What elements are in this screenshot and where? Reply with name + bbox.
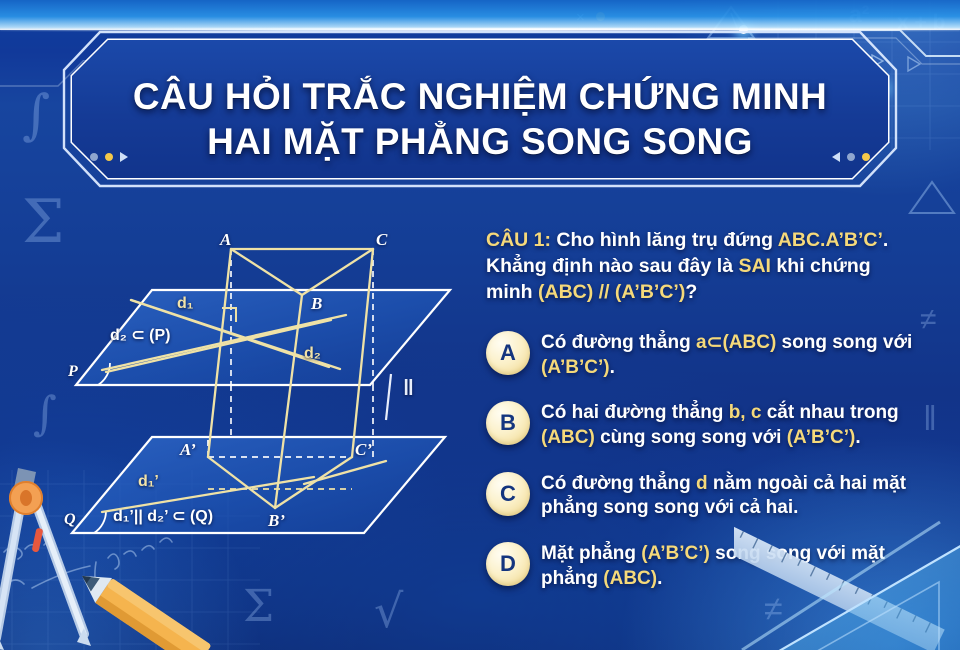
banner-title-text: CÂU HỎI TRẮC NGHIỆM CHỨNG MINH HAI MẶT P… bbox=[62, 74, 898, 164]
question-highlight-2: SAI bbox=[738, 255, 771, 277]
dot-grey bbox=[90, 153, 98, 161]
question-part-1: Cho hình lăng trụ đứng bbox=[551, 229, 778, 251]
title-banner: CÂU HỎI TRẮC NGHIỆM CHỨNG MINH HAI MẶT P… bbox=[62, 30, 898, 188]
banner-dots-right bbox=[832, 152, 870, 162]
poster-root: ∫ Σ ∫ Σ √ ≠ ≠ ‖ a² x + b × bbox=[0, 0, 960, 650]
parallel-tick bbox=[386, 374, 391, 420]
option-a[interactable]: A Có đường thẳng a⊂(ABC) song song với (… bbox=[486, 330, 926, 380]
question-highlight-3: (ABC) // (A’B’C’) bbox=[538, 281, 685, 303]
line-label-d1: d₁ bbox=[177, 295, 193, 313]
dot-gold bbox=[105, 153, 113, 161]
question-text: CÂU 1: Cho hình lăng trụ đứng ABC.A’B’C’… bbox=[486, 228, 916, 306]
relation-label-top: d₂ ⊂ (P) bbox=[110, 325, 171, 345]
option-badge-c[interactable]: C bbox=[486, 472, 530, 516]
dot-grey-2 bbox=[847, 153, 855, 161]
triangle-outline-right bbox=[908, 180, 956, 221]
question-highlight-1: ABC.A’B’C’ bbox=[778, 229, 883, 251]
vertex-label-B-prime: B’ bbox=[268, 511, 285, 531]
sigma-icon-2: Σ bbox=[243, 585, 274, 629]
ruler-and-set-square-illustration bbox=[734, 504, 960, 650]
title-line-1: CÂU HỎI TRẮC NGHIỆM CHỨNG MINH bbox=[62, 74, 898, 119]
play-triangle-icon bbox=[120, 152, 128, 162]
sqrt-icon: √ bbox=[374, 588, 403, 634]
question-block: CÂU 1: Cho hình lăng trụ đứng ABC.A’B’C’… bbox=[486, 228, 916, 306]
option-b[interactable]: B Có hai đường thẳng b, c cắt nhau trong… bbox=[486, 400, 926, 450]
plane-label-P: P bbox=[68, 363, 78, 381]
play-triangle-left-icon bbox=[832, 152, 840, 162]
vertex-label-C: C bbox=[376, 230, 387, 250]
compass-and-pencil-illustration bbox=[0, 466, 222, 650]
vertex-label-C-prime: C’ bbox=[355, 440, 372, 460]
option-text-a: Có đường thẳng a⊂(ABC) song song với (A’… bbox=[541, 330, 926, 380]
title-line-2: HAI MẶT PHẲNG SONG SONG bbox=[62, 119, 898, 164]
option-text-b: Có hai đường thẳng b, c cắt nhau trong (… bbox=[541, 400, 926, 450]
option-badge-b[interactable]: B bbox=[486, 401, 530, 445]
option-badge-a[interactable]: A bbox=[486, 331, 530, 375]
question-part-4: ? bbox=[685, 281, 697, 303]
vertex-label-B: B bbox=[311, 294, 322, 314]
parallel-symbol: ‖ bbox=[403, 375, 414, 401]
question-number: CÂU 1: bbox=[486, 229, 551, 251]
line-label-d2: d₂ bbox=[304, 345, 321, 363]
banner-dots-left bbox=[90, 152, 128, 162]
top-glow-band bbox=[0, 0, 960, 30]
vertex-label-A: A bbox=[220, 230, 231, 250]
dot-gold-2 bbox=[862, 153, 870, 161]
option-badge-d[interactable]: D bbox=[486, 542, 530, 586]
vertex-label-A-prime: A’ bbox=[180, 440, 196, 460]
